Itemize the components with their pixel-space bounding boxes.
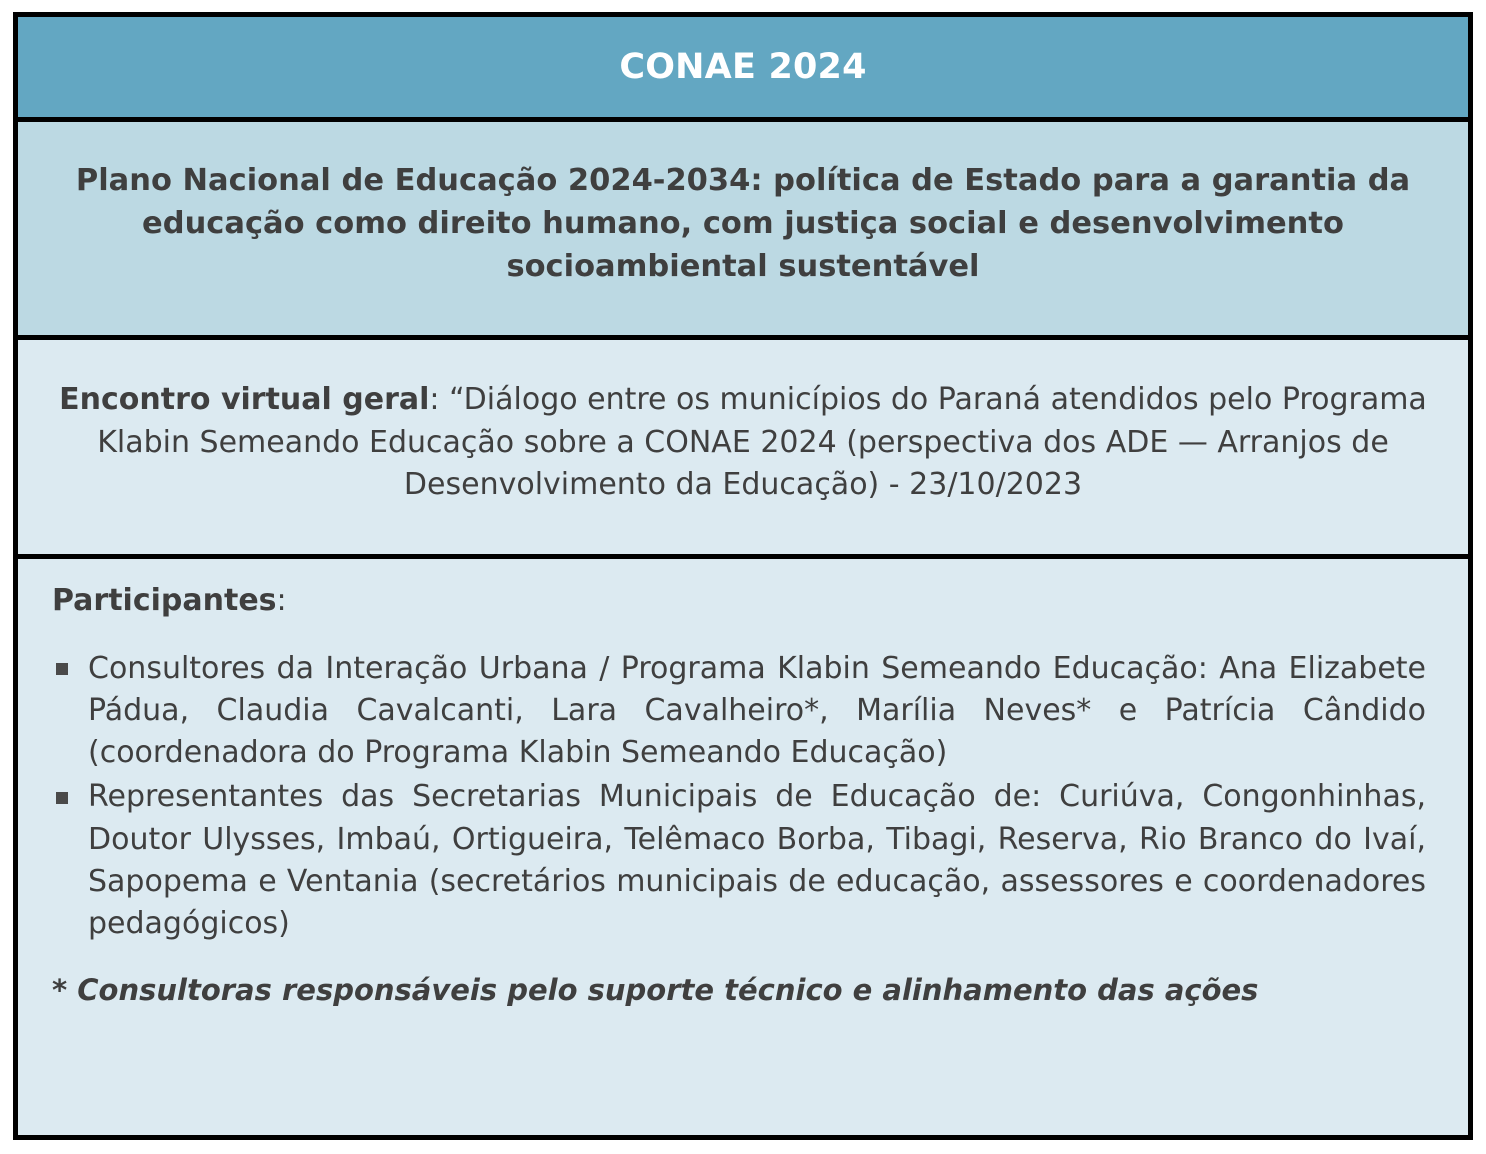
meeting-row: Encontro virtual geral: “Diálogo entre o… (18, 340, 1468, 559)
meeting-label: Encontro virtual geral (59, 382, 429, 417)
square-bullet-icon (56, 663, 68, 675)
participants-heading: Participantes: (52, 581, 1426, 622)
participants-footnote: * Consultoras responsáveis pelo suporte … (52, 972, 1426, 1010)
table-header-row: CONAE 2024 (18, 17, 1468, 122)
participants-list: Consultores da Interação Urbana / Progra… (52, 648, 1426, 948)
theme-row: Plano Nacional de Educação 2024-2034: po… (18, 122, 1468, 340)
participants-separator: : (277, 583, 287, 618)
participants-label: Participantes (52, 583, 277, 618)
list-item-text: Consultores da Interação Urbana / Progra… (88, 651, 1426, 771)
participants-row: Participantes: Consultores da Interação … (18, 559, 1468, 1135)
meeting-separator: : (429, 382, 449, 417)
theme-text: Plano Nacional de Educação 2024-2034: po… (64, 160, 1422, 288)
conae-info-table: CONAE 2024 Plano Nacional de Educação 20… (13, 12, 1473, 1140)
list-item: Consultores da Interação Urbana / Progra… (52, 648, 1426, 775)
document-table-wrapper: CONAE 2024 Plano Nacional de Educação 20… (0, 0, 1486, 1154)
page-title: CONAE 2024 (619, 48, 866, 87)
square-bullet-icon (56, 792, 68, 804)
list-item: Representantes das Secretarias Municipai… (52, 776, 1426, 945)
meeting-text: Encontro virtual geral: “Diálogo entre o… (58, 379, 1428, 507)
list-item-text: Representantes das Secretarias Municipai… (88, 779, 1426, 941)
